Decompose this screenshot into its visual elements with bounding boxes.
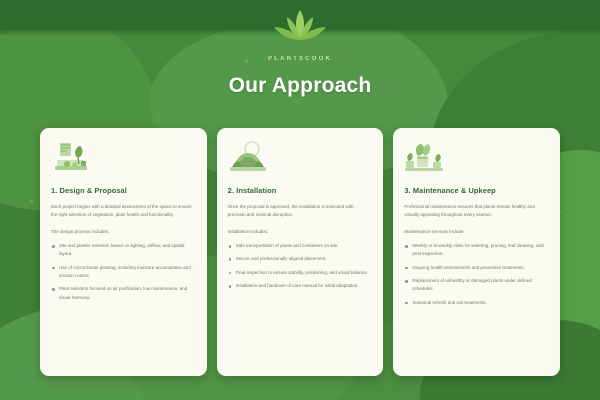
- list-item: Plant selection focused on air purificat…: [51, 285, 196, 302]
- card-bullet-list: Weekly or bi-weekly visits for watering,…: [404, 242, 549, 312]
- card-list-intro: The design process includes:: [51, 228, 196, 236]
- card-body-text: Professional maintenance ensures that pl…: [404, 203, 549, 220]
- list-item: Seasonal refresh and soil treatments.: [404, 299, 549, 307]
- list-item: Weekly or bi-weekly visits for watering,…: [404, 242, 549, 259]
- potted-plants-maintenance-icon: [404, 140, 444, 174]
- planting-shrub-installation-icon: [228, 140, 268, 174]
- card-title: 1. Design & Proposal: [51, 186, 196, 195]
- card-bullet-list: Safe transportation of plants and contai…: [228, 242, 373, 295]
- approach-card-installation: 2. Installation Once the proposal is app…: [217, 128, 384, 376]
- design-blueprint-plants-icon: [51, 140, 91, 174]
- list-item: Final inspection to ensure stability, po…: [228, 269, 373, 277]
- card-body-text: Once the proposal is approved, the insta…: [228, 203, 373, 220]
- page-header: PLANTSCOOK Our Approach: [0, 0, 600, 120]
- card-title: 3. Maintenance & Upkeep: [404, 186, 549, 195]
- list-item: Ongoing health assessments and preventiv…: [404, 264, 549, 272]
- approach-card-design-proposal: 1. Design & Proposal Each project begins…: [40, 128, 207, 376]
- card-title: 2. Installation: [228, 186, 373, 195]
- list-item: Replacement of unhealthy or damaged plan…: [404, 277, 549, 294]
- lotus-leaf-logo-icon: [269, 8, 331, 52]
- card-list-intro: Installation includes:: [228, 228, 373, 236]
- card-body-text: Each project begins with a detailed asse…: [51, 203, 196, 220]
- approach-card-maintenance-upkeep: 3. Maintenance & Upkeep Professional mai…: [393, 128, 560, 376]
- card-list-intro: Maintenance services include:: [404, 228, 549, 236]
- list-item: Use of microclimate planting, including …: [51, 264, 196, 281]
- list-item: Site and planter selection based on ligh…: [51, 242, 196, 259]
- list-item: Installation and handover of care manual…: [228, 282, 373, 290]
- approach-cards-row: 1. Design & Proposal Each project begins…: [40, 128, 560, 376]
- list-item: Secure and professionally aligned placem…: [228, 255, 373, 263]
- speck-dot: [30, 200, 33, 203]
- list-item: Safe transportation of plants and contai…: [228, 242, 373, 250]
- brand-name: PLANTSCOOK: [268, 56, 332, 62]
- page-title: Our Approach: [229, 74, 372, 98]
- card-bullet-list: Site and planter selection based on ligh…: [51, 242, 196, 307]
